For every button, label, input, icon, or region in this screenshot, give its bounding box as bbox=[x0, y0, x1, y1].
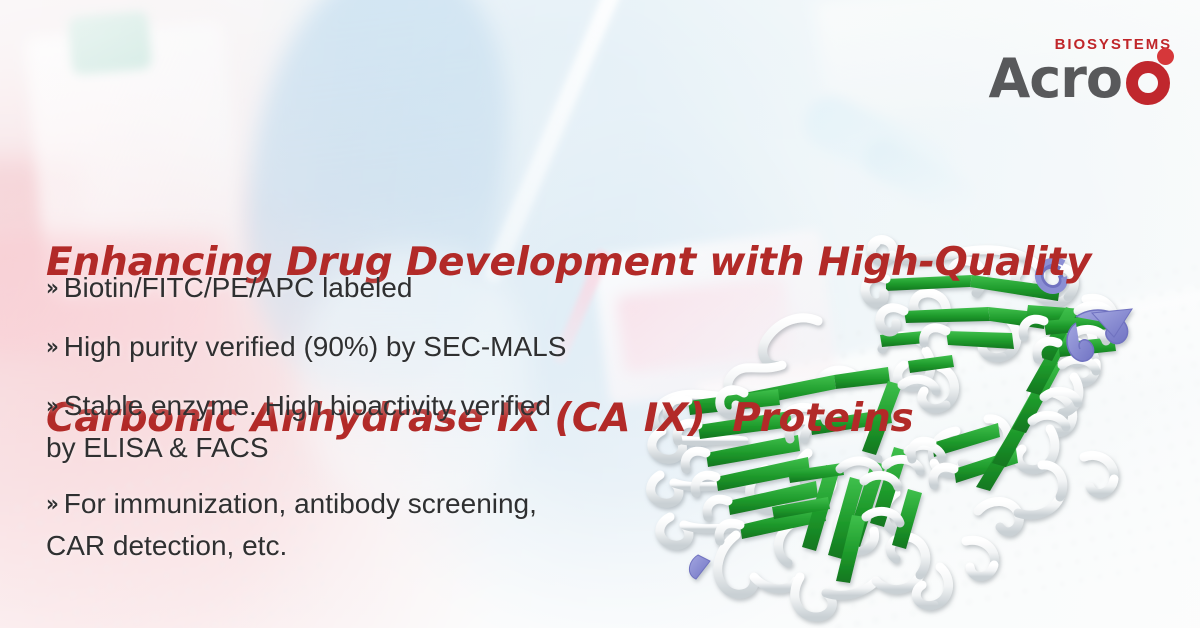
logo-acro-text: Acro bbox=[988, 50, 1122, 108]
list-item-text: For immunization, antibody screening, bbox=[64, 488, 537, 519]
logo-dot-icon bbox=[1157, 48, 1174, 65]
list-item: »High purity verified (90%) by SEC-MALS bbox=[46, 327, 686, 369]
chevron-right-icon: » bbox=[46, 394, 57, 419]
list-item: »Stable enzyme. High bioactivity verifie… bbox=[46, 386, 686, 467]
chevron-right-icon: » bbox=[46, 335, 57, 360]
list-item-text-line2: CAR detection, etc. bbox=[46, 526, 686, 565]
list-item: »For immunization, antibody screening, C… bbox=[46, 484, 686, 565]
acro-biosystems-logo[interactable]: BIOSYSTEMS Acro bbox=[1006, 36, 1174, 110]
list-item-text-line2: by ELISA & FACS bbox=[46, 428, 686, 467]
list-item-text: Biotin/FITC/PE/APC labeled bbox=[64, 272, 413, 303]
feature-list: »Biotin/FITC/PE/APC labeled »High purity… bbox=[46, 268, 686, 582]
list-item-text: High purity verified (90%) by SEC-MALS bbox=[64, 331, 567, 362]
chevron-right-icon: » bbox=[46, 492, 57, 517]
logo-wordmark: Acro bbox=[1006, 50, 1174, 108]
promotional-banner: BIOSYSTEMS Acro Enhancing Drug Developme… bbox=[0, 0, 1200, 628]
logo-ring-icon bbox=[1126, 61, 1170, 105]
list-item-text: Stable enzyme. High bioactivity verified bbox=[64, 390, 551, 421]
list-item: »Biotin/FITC/PE/APC labeled bbox=[46, 268, 686, 310]
chevron-right-icon: » bbox=[46, 276, 57, 301]
